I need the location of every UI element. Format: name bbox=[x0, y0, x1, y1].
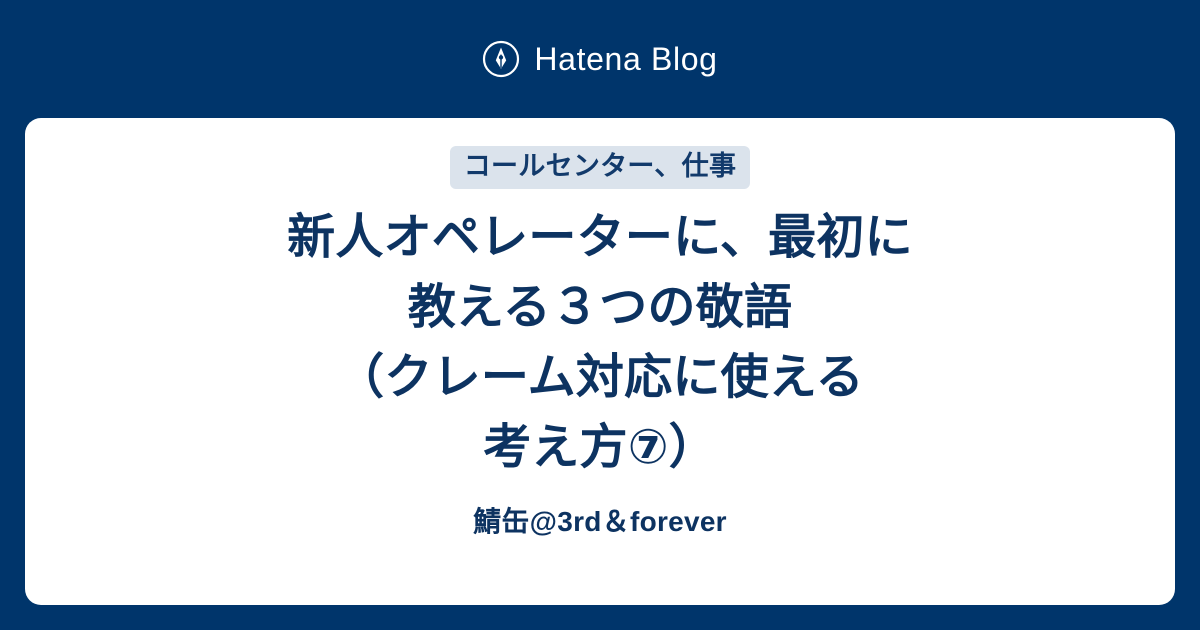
hatena-blog-brand-header: Hatena Blog bbox=[0, 0, 1200, 118]
category-tag[interactable]: コールセンター、仕事 bbox=[450, 146, 750, 189]
blog-name-label: 鯖缶@3rd＆forever bbox=[473, 505, 727, 539]
entry-title-line-2: 教える３つの敬語 bbox=[65, 273, 1135, 343]
entry-title-line-1: 新人オペレーターに、最初に bbox=[65, 203, 1135, 273]
brand-name-label: Hatena Blog bbox=[534, 43, 717, 75]
ogp-card-canvas: Hatena Blog コールセンター、仕事 新人オペレーターに、最初に 教える… bbox=[0, 0, 1200, 630]
fountain-pen-nib-icon bbox=[482, 40, 520, 78]
entry-title: 新人オペレーターに、最初に 教える３つの敬語 （クレーム対応に使える 考え方⑦） bbox=[25, 203, 1175, 483]
entry-title-line-4: 考え方⑦） bbox=[65, 413, 1135, 483]
entry-card: コールセンター、仕事 新人オペレーターに、最初に 教える３つの敬語 （クレーム対… bbox=[25, 118, 1175, 605]
entry-title-line-3: （クレーム対応に使える bbox=[65, 343, 1135, 413]
